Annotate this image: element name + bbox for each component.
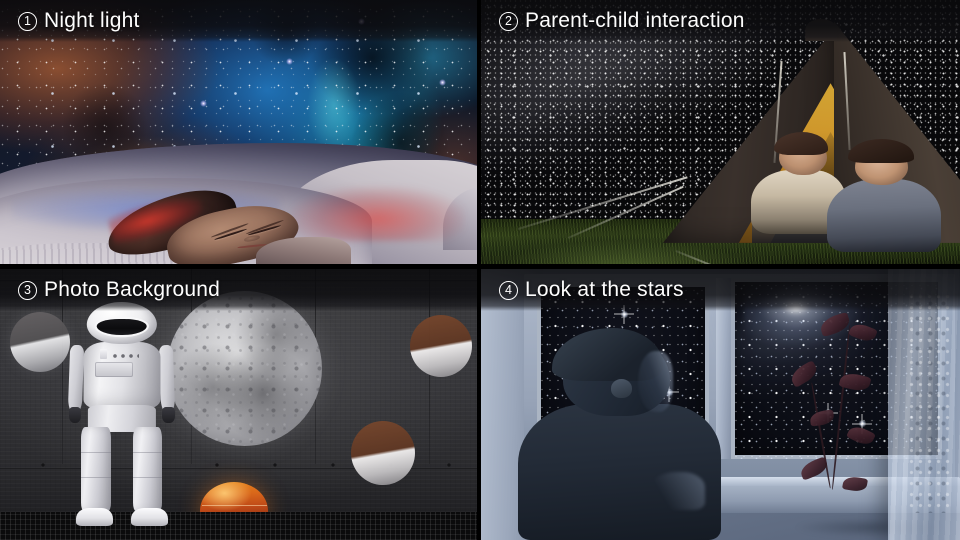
astronaut-leg — [81, 427, 111, 510]
camping-tent — [663, 21, 960, 243]
plant-leaf — [798, 456, 830, 480]
boy-ear — [611, 379, 632, 398]
child-sleeping-bag — [827, 179, 941, 252]
panel-look-at-the-stars[interactable]: 4 Look at the stars — [481, 269, 960, 540]
plant-leaf — [842, 475, 868, 493]
mars-highlight-line — [202, 505, 267, 507]
window-mullion — [716, 278, 731, 460]
astronaut-arm — [159, 345, 176, 413]
nose — [244, 234, 261, 242]
suit-badge — [100, 349, 108, 359]
suit-seam — [81, 452, 111, 453]
panel-photo-background[interactable]: 3 Photo Background — [0, 269, 477, 540]
astronaut-boot — [76, 508, 113, 526]
boy-shoulder-highlight — [648, 472, 705, 510]
plant-leaf — [788, 360, 820, 388]
astronaut-glove — [69, 407, 81, 423]
child-figure — [840, 141, 935, 252]
helmet-visor — [96, 319, 147, 336]
sleeping-child — [105, 195, 342, 264]
curtain-lace-pattern — [907, 291, 952, 513]
plant-stem — [831, 325, 850, 489]
child-hair — [848, 139, 914, 163]
astronaut-leg — [133, 427, 163, 510]
suit-control-buttons — [111, 352, 140, 360]
plant-leaf — [848, 320, 878, 344]
astronaut-boot — [131, 508, 168, 526]
wall-seam — [0, 280, 477, 282]
bright-star-icon — [620, 310, 629, 319]
boy-rim-light — [638, 351, 672, 413]
wall-seam — [62, 269, 63, 464]
bright-star-icon — [439, 79, 446, 86]
suit-seam — [81, 477, 111, 478]
suit-seam — [133, 452, 163, 453]
plant-leaf — [818, 312, 852, 337]
lace-curtain — [888, 269, 960, 540]
feature-panel-grid: 1 Night light — [0, 0, 960, 540]
panel-divider-horizontal — [0, 264, 960, 269]
large-moon-projection — [167, 291, 322, 446]
panel-parent-child-interaction[interactable]: 2 Parent-child interaction — [481, 0, 960, 264]
moon-projection — [10, 312, 70, 372]
boy-silhouette — [538, 334, 710, 540]
astronaut-glove — [162, 407, 174, 423]
tent-ridge-cap — [805, 19, 837, 41]
astronaut-figure — [67, 302, 177, 527]
plant-leaf — [846, 423, 876, 448]
suit-seam — [133, 477, 163, 478]
boy-torso — [518, 404, 721, 540]
bed-with-bedding — [0, 143, 477, 264]
moon-projection — [351, 421, 415, 485]
plant-leaf — [809, 410, 835, 427]
moon-craters — [167, 291, 322, 446]
astronaut-arm — [68, 345, 85, 413]
panel-divider-vertical — [477, 0, 481, 540]
panel-night-light[interactable]: 1 Night light — [0, 0, 477, 264]
suit-chest-panel — [95, 362, 132, 376]
moon-projection — [410, 315, 472, 377]
